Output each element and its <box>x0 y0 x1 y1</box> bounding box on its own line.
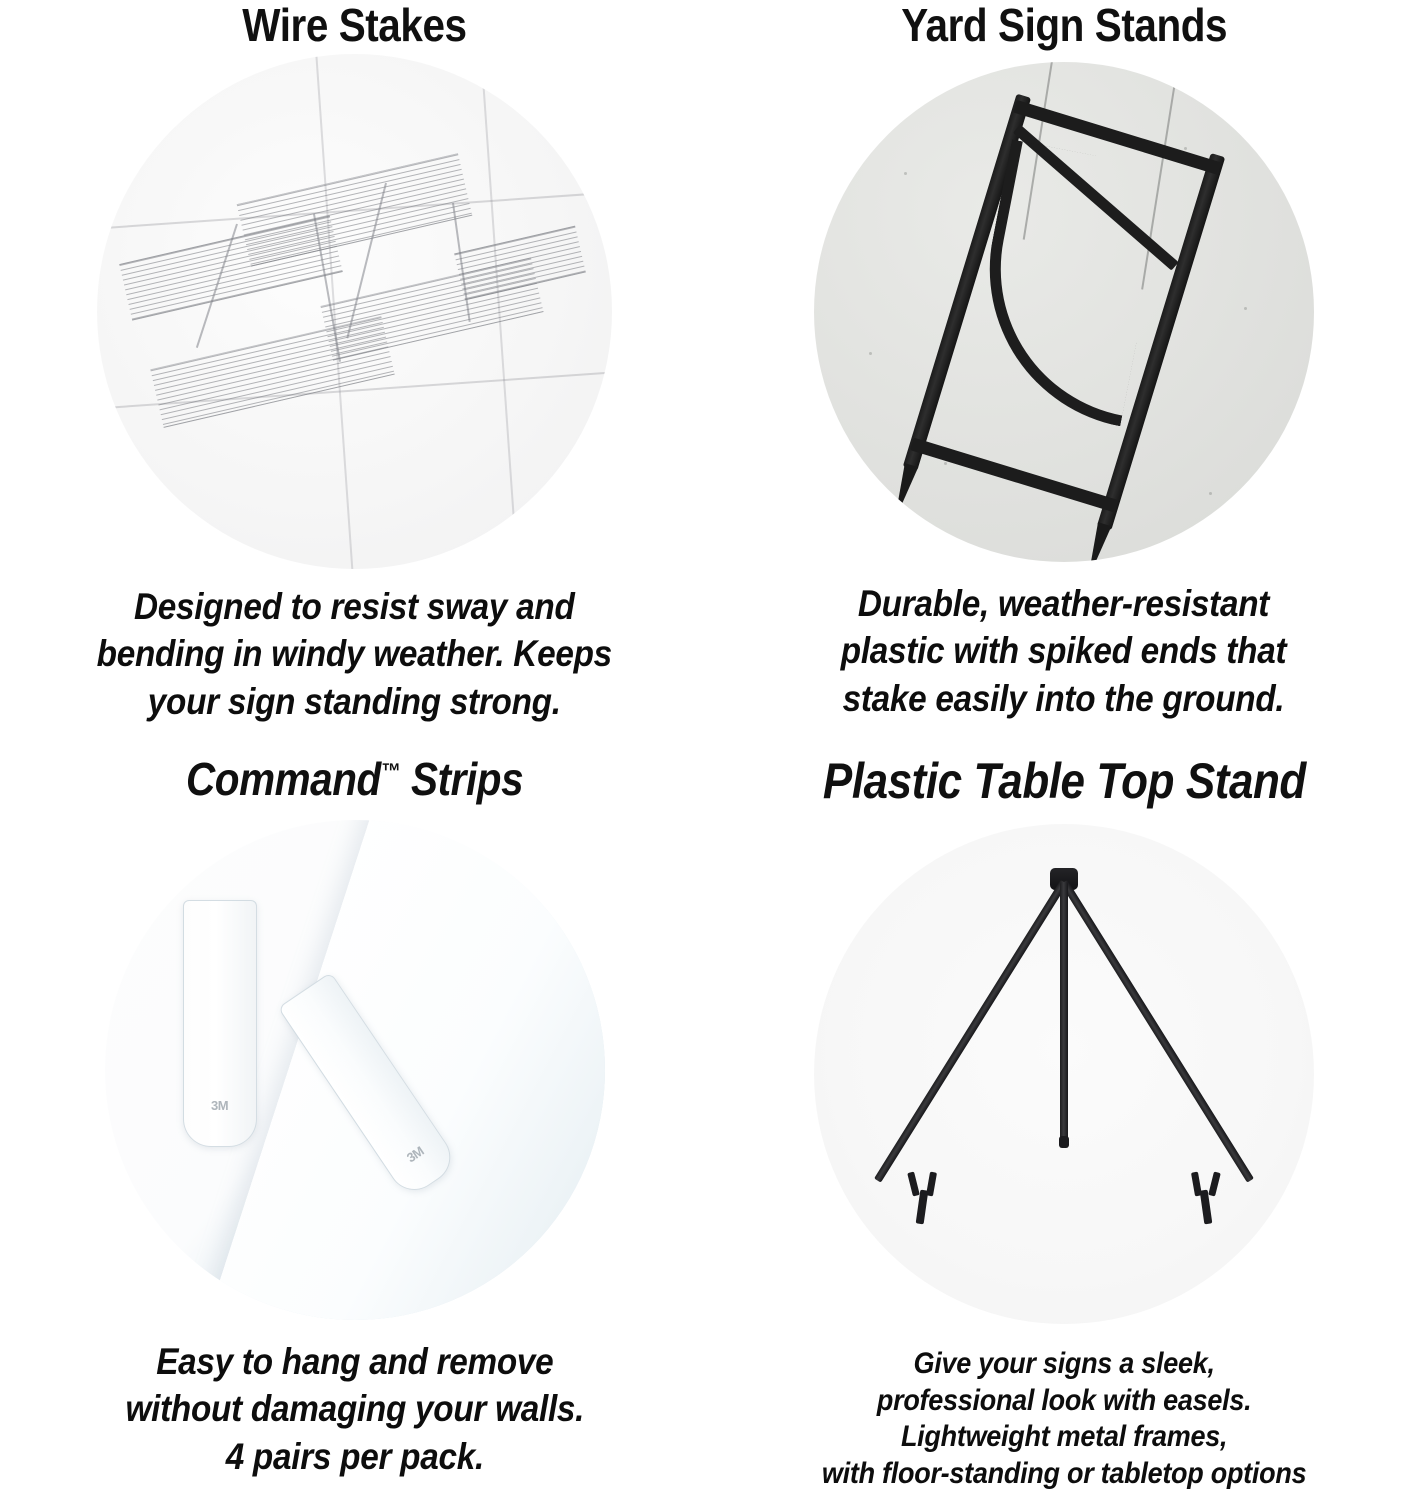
yard-sign-stand-artwork <box>814 62 1314 562</box>
wire-stakes-photo <box>97 54 612 569</box>
panel-plastic-table-top-stand: Plastic Table Top Stand <box>709 748 1419 1500</box>
folded-sheet <box>205 820 604 1320</box>
panel-yard-sign-stands: Yard Sign Stands <box>709 0 1419 748</box>
table-top-easel-photo <box>814 824 1314 1324</box>
easel-leg-right <box>874 880 1067 1183</box>
panel-caption-plastic-table-top-stand: Give your signs a sleek, professional lo… <box>822 1346 1306 1492</box>
easel-center-tip <box>1059 1136 1069 1148</box>
command-strip-vertical: 3M <box>183 900 257 1147</box>
stand-frame <box>897 92 1231 532</box>
panel-wire-stakes: Wire Stakes Des <box>0 0 709 748</box>
panel-caption-command-strips: Easy to hang and remove without damaging… <box>125 1338 584 1480</box>
panel-caption-wire-stakes: Designed to resist sway and bending in w… <box>97 583 612 725</box>
3m-logo-icon: 3M <box>211 1099 228 1112</box>
panel-heading-wire-stakes: Wire Stakes <box>242 2 466 48</box>
product-feature-infographic: Wire Stakes Des <box>0 0 1419 1500</box>
panel-caption-yard-sign-stands: Durable, weather-resistant plastic with … <box>841 580 1287 722</box>
easel-foot-right <box>1168 1172 1222 1224</box>
command-strips-artwork: 3M 3M <box>105 820 605 1320</box>
heading-text-command: Command <box>186 753 381 805</box>
3m-logo-icon: 3M <box>404 1144 425 1164</box>
wire-stakes-artwork <box>97 54 612 569</box>
panel-heading-yard-sign-stands: Yard Sign Stands <box>901 2 1227 48</box>
easel-foot-left <box>906 1172 960 1224</box>
easel-leg-left <box>1061 880 1254 1183</box>
panel-heading-plastic-table-top-stand: Plastic Table Top Stand <box>823 756 1306 806</box>
yard-sign-stand-photo <box>814 62 1314 562</box>
trademark-icon: ™ <box>381 759 400 784</box>
easel-leg-center <box>1060 882 1068 1144</box>
command-strips-photo: 3M 3M <box>105 820 605 1320</box>
table-top-easel-artwork <box>814 824 1314 1324</box>
panel-heading-command-strips: Command™ Strips <box>186 756 523 802</box>
heading-text-strips: Strips <box>400 753 523 805</box>
panel-command-strips: Command™ Strips 3M 3M Easy to hang and r… <box>0 748 709 1500</box>
panel-grid: Wire Stakes Des <box>0 0 1419 1500</box>
